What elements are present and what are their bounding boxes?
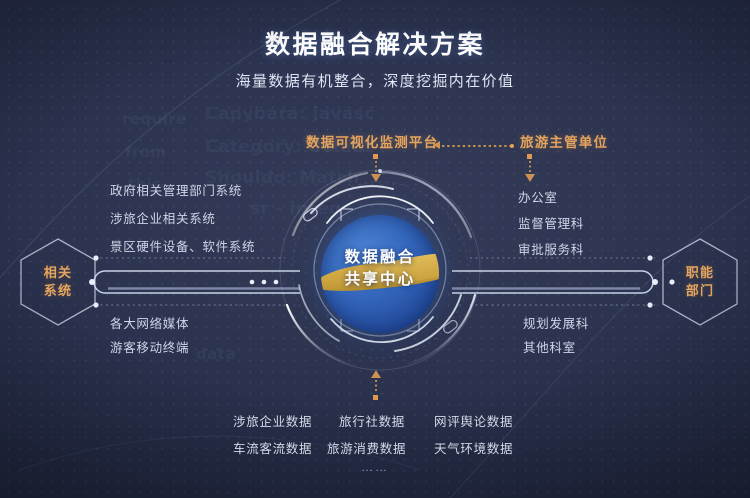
bottom-item-0: 涉旅企业数据 xyxy=(233,411,312,430)
bottom-item-1: 旅行社数据 xyxy=(339,411,405,430)
bottom-item-2: 网评舆论数据 xyxy=(434,411,513,430)
bottom-item-4: 旅游消费数据 xyxy=(327,438,406,457)
bottom-item-5: 天气环境数据 xyxy=(434,438,513,457)
bottom-items-group: 涉旅企业数据 旅行社数据 网评舆论数据 车流客流数据 旅游消费数据 天气环境数据… xyxy=(0,0,750,498)
bottom-item-3: 车流客流数据 xyxy=(233,438,312,457)
infographic-canvas: Capybara: javasc Category: delete Should… xyxy=(0,0,750,498)
bottom-ellipsis: …… xyxy=(0,460,750,474)
